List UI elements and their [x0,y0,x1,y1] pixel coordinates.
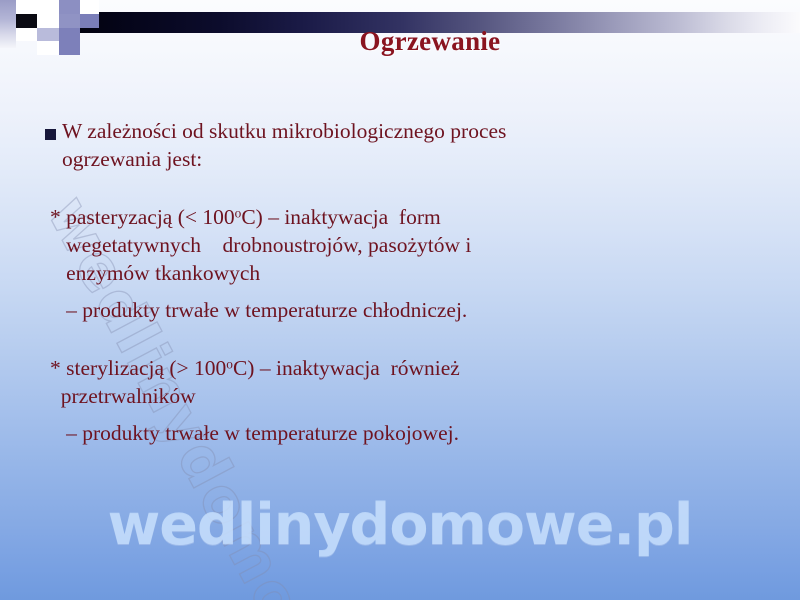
square-bullet-icon [45,129,56,140]
sterylizacja-line-1-b: C) – inaktywacja również [233,356,460,380]
paragraph-pasteryzacja-result: – produkty trwałe w temperaturze chłodni… [0,297,800,325]
slide-title: Ogrzewanie [0,26,800,57]
spacer [0,288,800,297]
degree-superscript: o [226,356,233,371]
slide-body: W zależności od skutku mikrobiologiczneg… [0,118,800,447]
decoration-square [59,0,80,14]
sterylizacja-line-1: * sterylizacją (> 100oC) – inaktywacja r… [50,355,770,383]
slide-canvas: wedlinydomowe.pl Ogrzewanie W zależności… [0,0,800,600]
spacer [0,411,800,420]
pasteryzacja-line-1-a: * pasteryzacją (< 100 [50,205,235,229]
decoration-square [80,0,99,14]
paragraph-sterylizacja: * sterylizacją (> 100oC) – inaktywacja r… [0,355,800,411]
bottom-watermark: wedlinydomowe.pl [0,492,800,558]
sterylizacja-line-1-a: * sterylizacją (> 100 [50,356,226,380]
pasteryzacja-line-4: – produkty trwałe w temperaturze chłodni… [50,297,800,325]
pasteryzacja-line-3: enzymów tkankowych [50,260,770,288]
spacer [0,325,800,355]
bullet-item-1: W zależności od skutku mikrobiologiczneg… [0,118,800,174]
pasteryzacja-line-2: wegetatywnych drobnoustrojów, pasożytów … [50,232,770,260]
bullet-1-line-2: ogrzewania jest: [78,146,760,174]
sterylizacja-line-3: – produkty trwałe w temperaturze pokojow… [50,420,800,448]
pasteryzacja-line-1: * pasteryzacją (< 100oC) – inaktywacja f… [50,204,770,232]
paragraph-sterylizacja-result: – produkty trwałe w temperaturze pokojow… [0,420,800,448]
spacer [0,174,800,204]
pasteryzacja-line-1-b: C) – inaktywacja form [241,205,440,229]
decoration-square [16,0,37,14]
sterylizacja-line-2: przetrwalników [50,383,770,411]
paragraph-pasteryzacja: * pasteryzacją (< 100oC) – inaktywacja f… [0,204,800,288]
bullet-1-line-1: W zależności od skutku mikrobiologiczneg… [78,118,760,146]
decoration-square [37,0,59,14]
